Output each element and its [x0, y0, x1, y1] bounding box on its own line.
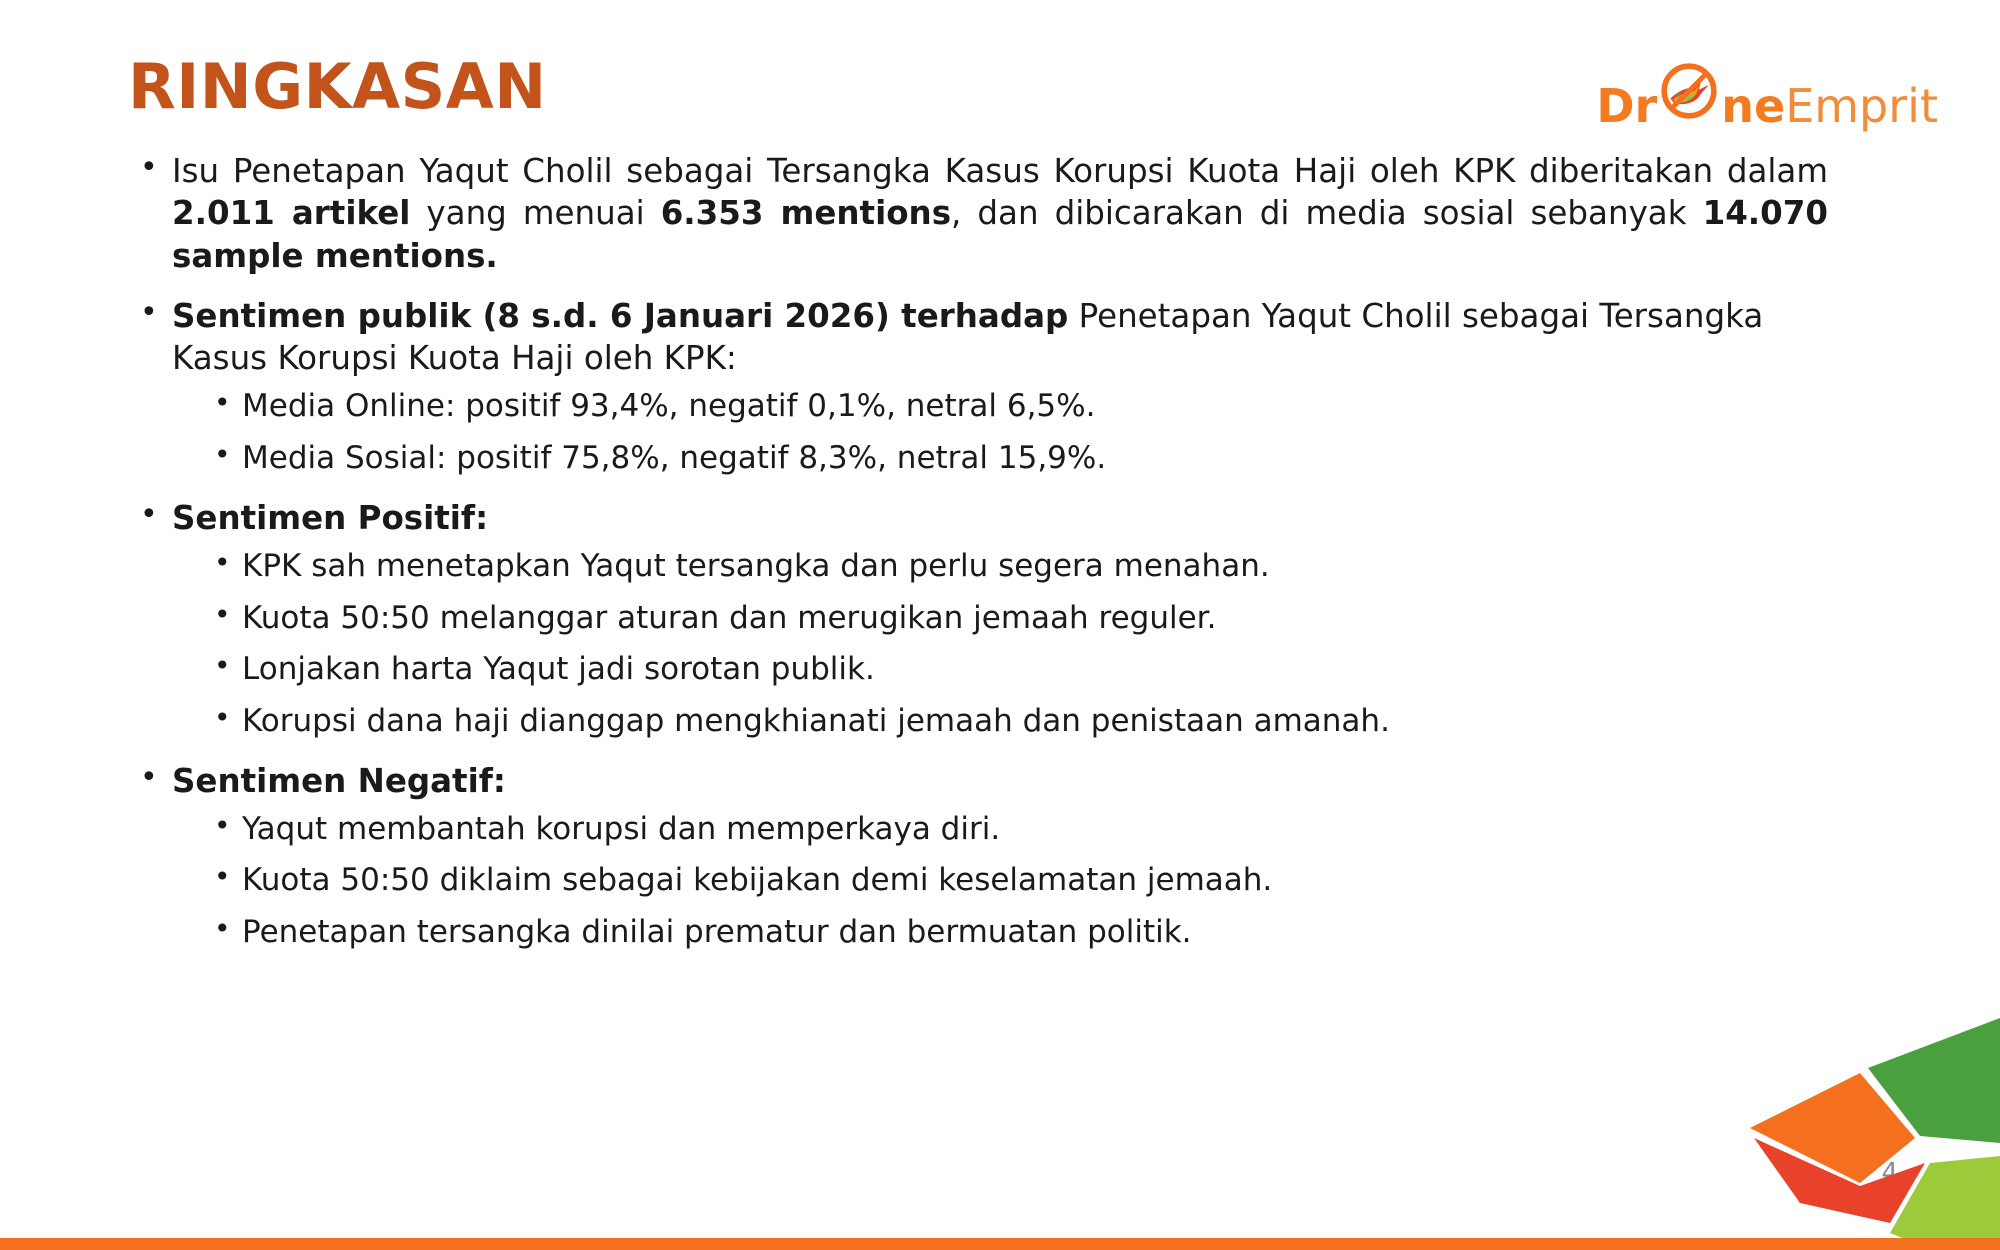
bullet-text-bold: 6.353 mentions: [661, 194, 951, 232]
drone-emprit-logo: Dr ne Emprit: [1596, 56, 1938, 132]
sub-bullet-wrapper: Yaqut membantah korupsi dan memperkaya d…: [200, 810, 1828, 953]
sub-bullet-list: Media Online: positif 93,4%, negatif 0,1…: [200, 387, 1828, 478]
slide-body: Isu Penetapan Yaqut Cholil sebagai Tersa…: [128, 150, 1828, 971]
bullet-text-bold: 2.011 artikel: [172, 194, 410, 232]
pinwheel-fan-decoration: [1740, 978, 2000, 1238]
sub-bullet-wrapper: KPK sah menetapkan Yaqut tersangka dan p…: [200, 547, 1828, 742]
bullet-text: Sentimen publik (8 s.d. 6 Januari 2026) …: [172, 297, 1763, 377]
sub-bullet-item: Lonjakan harta Yaqut jadi sorotan publik…: [200, 650, 1828, 690]
page-number: 4: [1881, 1158, 1898, 1188]
bullet-item: Isu Penetapan Yaqut Cholil sebagai Tersa…: [128, 150, 1828, 277]
bullet-text-bold: Sentimen publik (8 s.d. 6 Januari 2026) …: [172, 297, 1068, 335]
bullet-item: Sentimen Negatif:Yaqut membantah korupsi…: [128, 760, 1828, 953]
bullet-text: Sentimen Negatif:: [172, 762, 506, 800]
logo-text-dr: Dr: [1596, 83, 1657, 129]
page-title: RINGKASAN: [128, 50, 547, 123]
sub-bullet-list: KPK sah menetapkan Yaqut tersangka dan p…: [200, 547, 1828, 742]
bullet-list: Isu Penetapan Yaqut Cholil sebagai Tersa…: [128, 150, 1828, 953]
bird-in-crossed-circle-icon: [1658, 60, 1720, 122]
sub-bullet-item: Korupsi dana haji dianggap mengkhianati …: [200, 702, 1828, 742]
sub-bullet-item: Media Sosial: positif 75,8%, negatif 8,3…: [200, 439, 1828, 479]
sub-bullet-list: Yaqut membantah korupsi dan memperkaya d…: [200, 810, 1828, 953]
bottom-accent-bar: [0, 1238, 2000, 1250]
bullet-text: Sentimen Positif:: [172, 499, 488, 537]
bullet-text-plain: yang menuai: [410, 194, 660, 232]
bullet-text-plain: , dan dibicarakan di media sosial sebany…: [951, 194, 1703, 232]
bullet-text-bold: Sentimen Negatif:: [172, 762, 506, 800]
sub-bullet-item: Yaqut membantah korupsi dan memperkaya d…: [200, 810, 1828, 850]
bullet-text: Isu Penetapan Yaqut Cholil sebagai Tersa…: [172, 152, 1828, 275]
bullet-text-bold: Sentimen Positif:: [172, 499, 488, 537]
logo-text-emprit: Emprit: [1785, 83, 1938, 129]
sub-bullet-item: Kuota 50:50 diklaim sebagai kebijakan de…: [200, 861, 1828, 901]
sub-bullet-item: Media Online: positif 93,4%, negatif 0,1…: [200, 387, 1828, 427]
logo-text: Dr ne Emprit: [1596, 60, 1938, 129]
sub-bullet-item: Kuota 50:50 melanggar aturan dan merugik…: [200, 599, 1828, 639]
sub-bullet-item: Penetapan tersangka dinilai prematur dan…: [200, 913, 1828, 953]
sub-bullet-wrapper: Media Online: positif 93,4%, negatif 0,1…: [200, 387, 1828, 478]
slide: RINGKASAN Dr ne Emprit Isu Pene: [0, 0, 2000, 1250]
bullet-item: Sentimen publik (8 s.d. 6 Januari 2026) …: [128, 295, 1828, 479]
bullet-text-plain: Isu Penetapan Yaqut Cholil sebagai Tersa…: [172, 152, 1828, 190]
sub-bullet-item: KPK sah menetapkan Yaqut tersangka dan p…: [200, 547, 1828, 587]
logo-text-ne: ne: [1721, 83, 1785, 129]
bullet-item: Sentimen Positif:KPK sah menetapkan Yaqu…: [128, 497, 1828, 742]
